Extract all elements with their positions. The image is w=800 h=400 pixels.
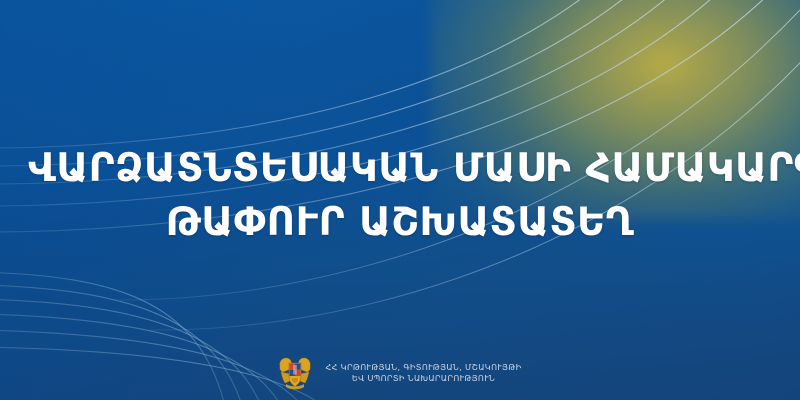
ministry-name: ՀՀ ԿՐԹՈՒԹՅԱՆ, ԳԻՏՈՒԹՅԱՆ, ՄՇԱԿՈՒՅԹԻ ԵՎ ՍՊ… <box>325 362 521 385</box>
ministry-line-1: ՀՀ ԿՐԹՈՒԹՅԱՆ, ԳԻՏՈՒԹՅԱՆ, ՄՇԱԿՈՒՅԹԻ <box>325 362 521 374</box>
banner-footer: ՀՀ ԿՐԹՈՒԹՅԱՆ, ԳԻՏՈՒԹՅԱՆ, ՄՇԱԿՈՒՅԹԻ ԵՎ ՍՊ… <box>0 354 800 392</box>
armenia-coat-of-arms-icon <box>278 354 312 392</box>
title-line-2: ԹԱՓՈՒՐ ԱՇԽԱՏԱՏԵՂ <box>28 196 772 250</box>
ministry-line-2: ԵՎ ՍՊՈՐՏԻ ՆԱԽԱՐԱՐՈՒԹՅՈՒՆ <box>325 373 521 385</box>
banner-title: ՎԱՐՁԱՏՆՏԵՍԱԿԱՆ ՄԱՍԻ ՀԱՄԱԿԱՐԳՈՂԻ ԹԱՓՈՒՐ Ա… <box>0 142 800 250</box>
announcement-banner: ՎԱՐՁԱՏՆՏԵՍԱԿԱՆ ՄԱՍԻ ՀԱՄԱԿԱՐԳՈՂԻ ԹԱՓՈՒՐ Ա… <box>0 0 800 400</box>
title-line-1: ՎԱՐՁԱՏՆՏԵՍԱԿԱՆ ՄԱՍԻ ՀԱՄԱԿԱՐԳՈՂԻ <box>28 142 772 196</box>
